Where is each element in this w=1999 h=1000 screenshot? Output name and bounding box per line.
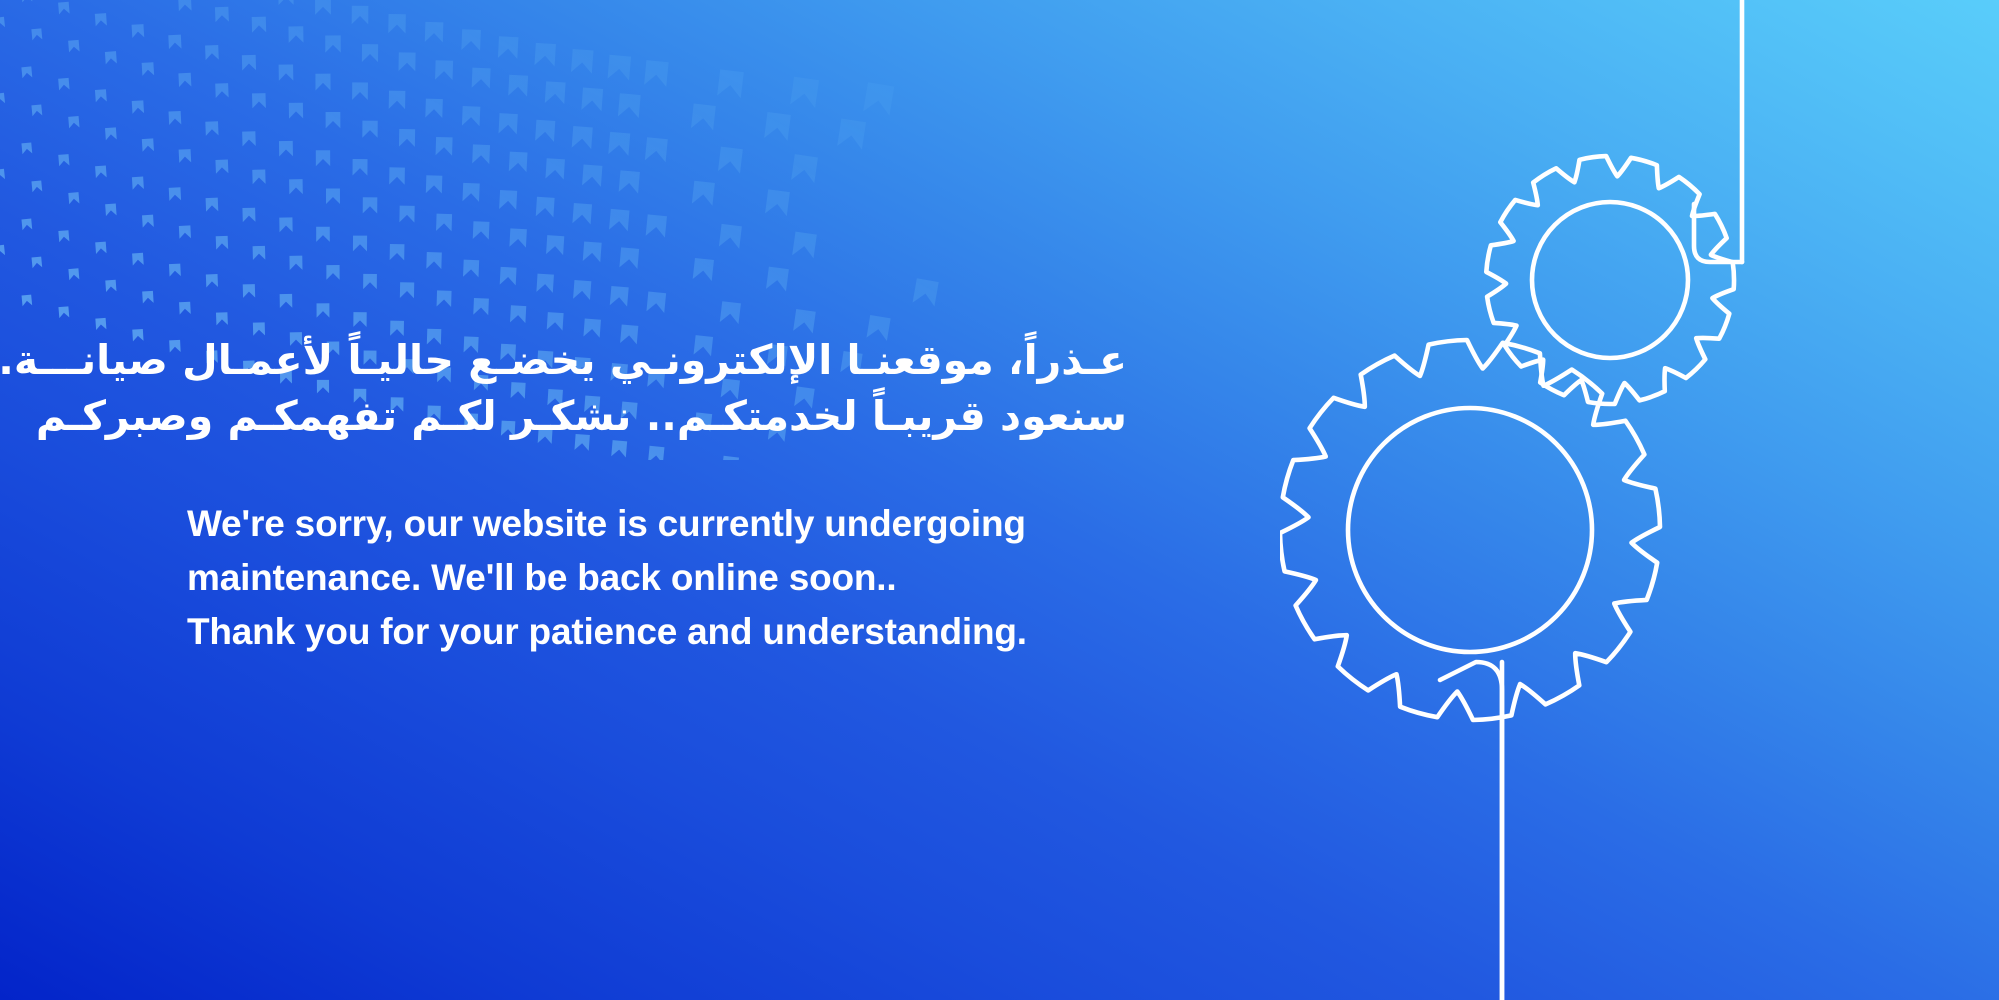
english-line-3: Thank you for your patience and understa… xyxy=(187,605,1187,659)
arabic-line-2: سنعود قريبـاً لخدمتكـم.. نشكـر لكـم تفهم… xyxy=(187,389,1127,445)
english-line-1: We're sorry, our website is currently un… xyxy=(187,497,1187,551)
arabic-line-1: عـذراً، موقعنـا الإلكترونـي يخضـع حاليـا… xyxy=(187,333,1127,389)
maintenance-page: عـذراً، موقعنـا الإلكترونـي يخضـع حاليـا… xyxy=(0,0,1999,1000)
arabic-message: عـذراً، موقعنـا الإلكترونـي يخضـع حاليـا… xyxy=(187,333,1127,445)
spacer xyxy=(187,445,1187,497)
message-block: عـذراً، موقعنـا الإلكترونـي يخضـع حاليـا… xyxy=(187,333,1187,659)
english-message: We're sorry, our website is currently un… xyxy=(187,497,1187,659)
gear-large xyxy=(1280,340,1660,1000)
gear-small xyxy=(1486,156,1742,404)
english-line-2: maintenance. We'll be back online soon.. xyxy=(187,551,1187,605)
gears-illustration xyxy=(1280,0,1999,1000)
